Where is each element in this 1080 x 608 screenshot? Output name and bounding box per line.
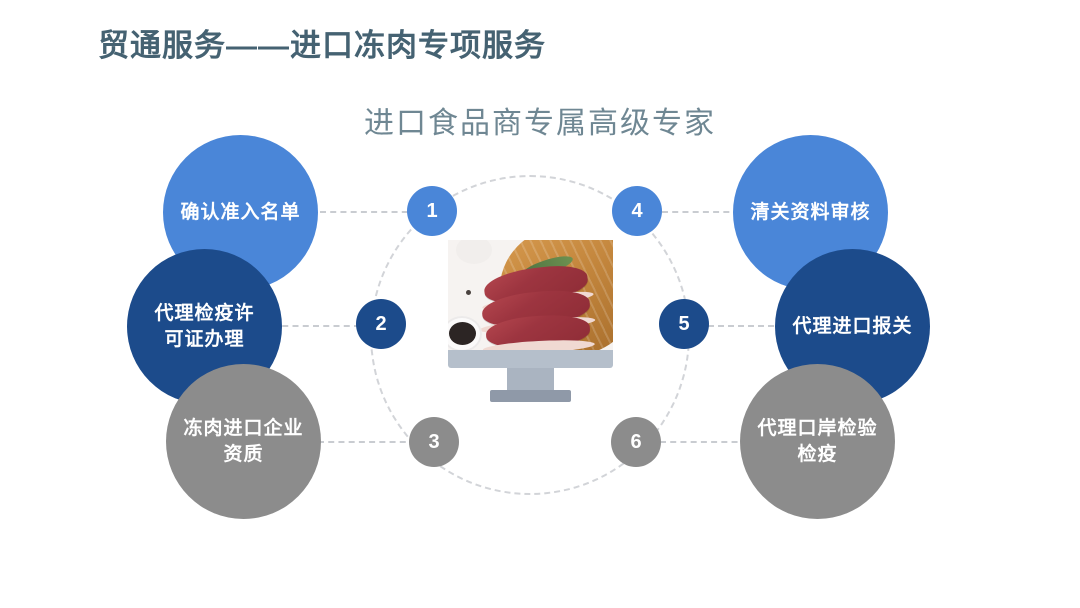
slide-canvas: 贸通服务——进口冻肉专项服务 进口食品商专属高级专家 <box>0 0 1080 608</box>
step-bubble-label: 代理进口报关 <box>792 314 912 339</box>
monitor-body <box>448 350 613 368</box>
step-badge-number: 5 <box>678 313 689 336</box>
step-badge-number: 2 <box>375 313 386 336</box>
step-bubble-6[interactable]: 代理口岸检验检疫 <box>740 364 895 519</box>
step-badge-2[interactable]: 2 <box>356 299 406 349</box>
step-badge-5[interactable]: 5 <box>659 299 709 349</box>
step-badge-6[interactable]: 6 <box>611 417 661 467</box>
connector-step-3 <box>318 441 416 443</box>
step-bubble-label: 清关资料审核 <box>750 200 870 225</box>
meat-photo <box>448 240 613 350</box>
step-bubble-label: 代理检疫许可证办理 <box>154 301 254 351</box>
step-badge-3[interactable]: 3 <box>409 417 459 467</box>
step-badge-number: 3 <box>428 431 439 454</box>
page-title: 贸通服务——进口冻肉专项服务 <box>98 20 546 65</box>
step-bubble-label: 确认准入名单 <box>180 200 300 225</box>
connector-step-1 <box>320 211 418 213</box>
garlic-shape <box>456 240 492 264</box>
step-badge-4[interactable]: 4 <box>612 186 662 236</box>
peppercorn-shape <box>466 290 471 295</box>
step-bubble-label: 冻肉进口企业资质 <box>183 416 303 466</box>
monitor-neck <box>507 368 554 392</box>
monitor-base <box>490 390 571 402</box>
step-badge-number: 1 <box>426 200 437 223</box>
step-badge-number: 6 <box>630 431 641 454</box>
monitor-screen <box>448 240 613 350</box>
pepper-bowl-shape <box>448 316 482 350</box>
step-bubble-label: 代理口岸检验检疫 <box>757 416 877 466</box>
page-subtitle: 进口食品商专属高级专家 <box>0 98 1080 142</box>
monitor-illustration <box>448 240 613 410</box>
step-badge-number: 4 <box>631 200 642 223</box>
step-bubble-3[interactable]: 冻肉进口企业资质 <box>166 364 321 519</box>
connector-step-2 <box>272 325 360 327</box>
step-badge-1[interactable]: 1 <box>407 186 457 236</box>
